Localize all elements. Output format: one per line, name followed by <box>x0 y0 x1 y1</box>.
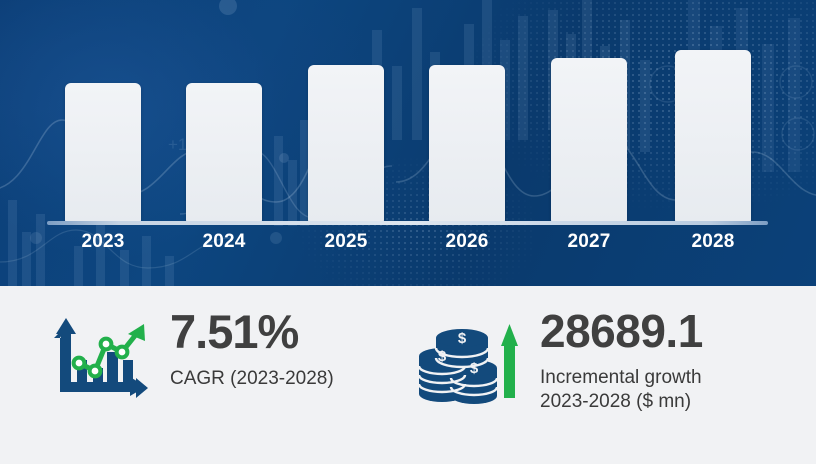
incremental-growth-value: 28689.1 <box>540 308 703 354</box>
stats-panel: 7.51% CAGR (2023-2028) <box>0 286 816 464</box>
x-axis-label-2026: 2026 <box>407 231 527 253</box>
x-axis-label-2027: 2027 <box>529 231 649 253</box>
incremental-growth-stat: $ $ $ 28689.1 Incremental growth 2023-20… <box>418 308 703 414</box>
bar-2027 <box>551 58 627 222</box>
incremental-growth-text-block: 28689.1 Incremental growth 2023-2028 ($ … <box>540 308 703 414</box>
chart-panel: +1 2023 2024 2025 2026 2027 2028 <box>0 0 816 286</box>
cagr-text-block: 7.51% CAGR (2023-2028) <box>170 308 334 391</box>
svg-text:$: $ <box>458 330 467 347</box>
cagr-stat: 7.51% CAGR (2023-2028) <box>48 308 334 405</box>
bar-2028 <box>675 50 751 222</box>
bar-chart: 2023 2024 2025 2026 2027 2028 <box>0 0 816 286</box>
bar-2024 <box>186 83 262 222</box>
cagr-caption: CAGR (2023-2028) <box>170 367 334 391</box>
bar-2026 <box>429 65 505 222</box>
x-axis-line <box>47 221 768 225</box>
market-growth-infographic: +1 2023 2024 2025 2026 2027 2028 <box>0 0 816 464</box>
coin-stack-arrow-icon: $ $ $ <box>418 316 518 409</box>
x-axis-label-2024: 2024 <box>164 231 284 253</box>
growth-chart-icon <box>48 316 152 405</box>
incremental-growth-caption: Incremental growth 2023-2028 ($ mn) <box>540 366 703 414</box>
svg-text:$: $ <box>438 348 447 365</box>
x-axis-label-2028: 2028 <box>653 231 773 253</box>
svg-text:$: $ <box>470 360 479 377</box>
bar-2023 <box>65 83 141 222</box>
cagr-value: 7.51% <box>170 308 334 355</box>
x-axis-label-2023: 2023 <box>43 231 163 253</box>
x-axis-label-2025: 2025 <box>286 231 406 253</box>
bar-2025 <box>308 65 384 222</box>
